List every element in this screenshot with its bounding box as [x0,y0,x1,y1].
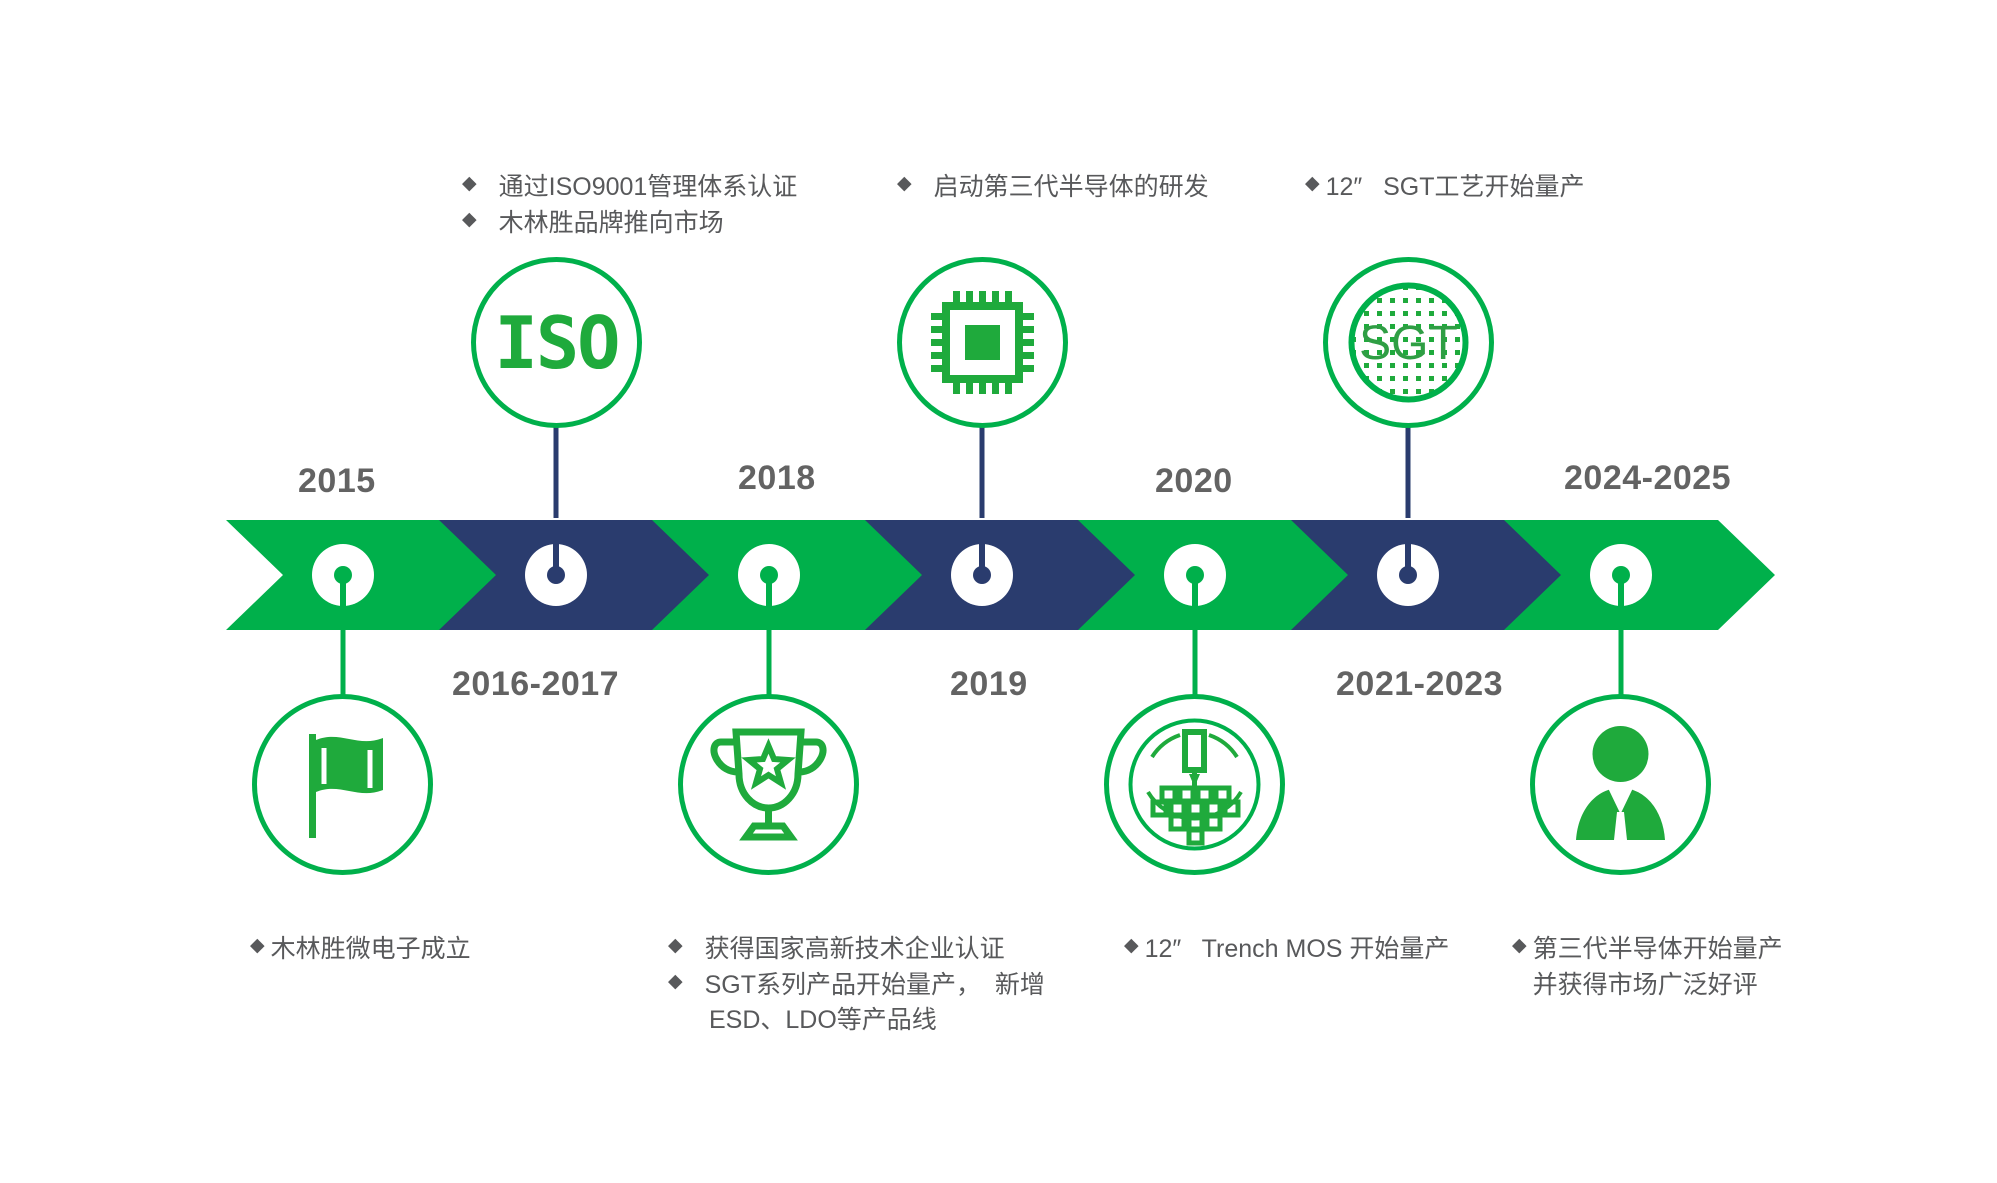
diamond-bullet-icon: ◆ [462,171,477,198]
sgt-badge-icon: SGT [1352,286,1466,400]
bullet-text: 启动第三代半导体的研发 [934,170,1209,206]
bullet-line: ◆ 12″ SGT工艺开始量产 [1305,170,1585,206]
medallion-2020[interactable] [1102,692,1287,877]
medallion-2015[interactable] [250,692,435,877]
diamond-bullet-icon: ◆ [1305,171,1320,198]
callout-2016-2017: ◆ 通过ISO9001管理体系认证 ◆ 木林胜品牌推向市场 [462,170,797,241]
bullet-line: ◆ 木林胜品牌推向市场 [462,206,797,242]
callout-2021-2023: ◆ 12″ SGT工艺开始量产 [1305,170,1585,206]
medallion-2021-2023[interactable]: SGT [1321,255,1496,430]
bullet-text: 木林胜品牌推向市场 [499,206,724,242]
medallion-2024-2025[interactable] [1528,692,1713,877]
medallion-2018[interactable] [676,692,861,877]
chip-icon [931,291,1034,394]
callout-2019: ◆ 启动第三代半导体的研发 [897,170,1209,206]
bullet-text: 12″ SGT工艺开始量产 [1326,170,1585,206]
bullet-line: ◆ 启动第三代半导体的研发 [897,170,1209,206]
bullet-line: ◆ 通过ISO9001管理体系认证 [462,170,797,206]
medallion-2019[interactable] [895,255,1070,430]
diamond-bullet-icon: ◆ [897,171,912,198]
svg-text:SGT: SGT [1359,317,1458,370]
iso-badge-icon: ISO [494,301,618,385]
bullet-text: 通过ISO9001管理体系认证 [499,170,798,206]
timeline-infographic: ◆ 通过ISO9001管理体系认证 ◆ 木林胜品牌推向市场 ◆ 启动第三代半导体… [0,0,1997,1183]
diamond-bullet-icon: ◆ [462,207,477,234]
medallion-2016-2017[interactable]: ISO [469,255,644,430]
